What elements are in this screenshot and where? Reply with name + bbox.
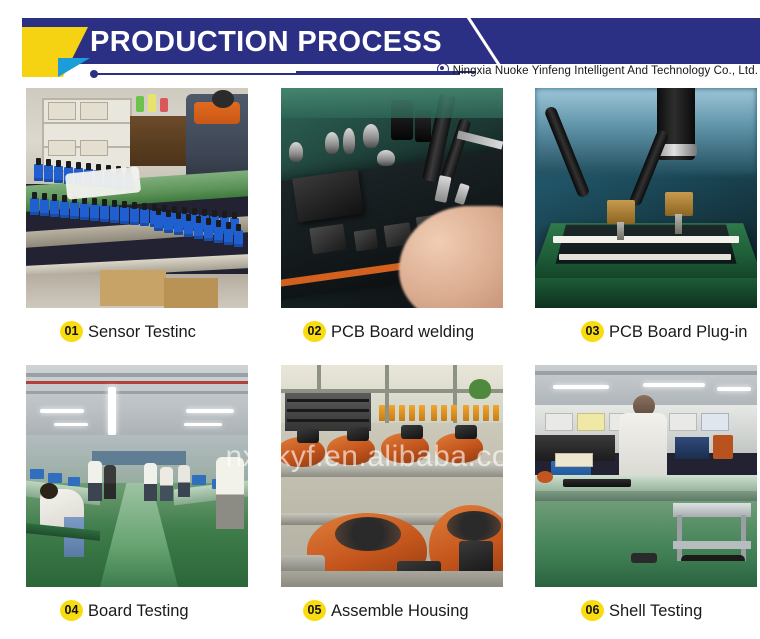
step-label-02: PCB Board welding <box>331 323 474 341</box>
target-icon <box>437 63 449 75</box>
step-label-03: PCB Board Plug-in <box>609 323 748 341</box>
process-grid: 01Sensor Testinc <box>0 88 760 639</box>
step-caption-01: 01Sensor Testinc <box>26 308 248 356</box>
process-step-01[interactable]: 01Sensor Testinc <box>26 88 248 356</box>
step-caption-02: 02PCB Board welding <box>281 308 503 356</box>
step-label-04: Board Testing <box>88 602 189 620</box>
step-badge-04: 04 <box>60 600 83 621</box>
step-badge-05: 05 <box>303 600 326 621</box>
page-title: PRODUCTION PROCESS <box>90 19 442 65</box>
step-badge-01: 01 <box>60 321 83 342</box>
step-caption-06: 06Shell Testing <box>535 587 757 635</box>
step-caption-03: 03PCB Board Plug-in <box>535 308 757 356</box>
step-photo-sensor-testing <box>26 88 248 308</box>
step-photo-pcb-plugin <box>535 88 757 308</box>
step-badge-02: 02 <box>303 321 326 342</box>
step-badge-06: 06 <box>581 600 604 621</box>
step-photo-shell-testing <box>535 365 757 587</box>
step-photo-pcb-welding <box>281 88 503 308</box>
process-step-04[interactable]: 04Board Testing <box>26 365 248 635</box>
company-name: Ningxia Nuoke Yinfeng Intelligent And Te… <box>437 63 758 77</box>
page-header: PRODUCTION PROCESS Ningxia Nuoke Yinfeng… <box>0 0 760 88</box>
step-label-05: Assemble Housing <box>331 602 469 620</box>
step-label-01: Sensor Testinc <box>88 323 196 341</box>
header-rule-left <box>96 73 460 75</box>
step-badge-03: 03 <box>581 321 604 342</box>
process-step-05[interactable]: 05Assemble Housing <box>281 365 503 635</box>
company-name-text: Ningxia Nuoke Yinfeng Intelligent And Te… <box>453 65 758 77</box>
process-step-02[interactable]: 02PCB Board welding <box>281 88 503 356</box>
step-label-06: Shell Testing <box>609 602 702 620</box>
process-step-06[interactable]: 06Shell Testing <box>535 365 757 635</box>
step-photo-assemble-housing <box>281 365 503 587</box>
header-diagonal-slash-icon <box>458 18 507 64</box>
step-caption-05: 05Assemble Housing <box>281 587 503 635</box>
step-caption-04: 04Board Testing <box>26 587 248 635</box>
process-step-03[interactable]: 03PCB Board Plug-in <box>535 88 757 356</box>
step-photo-board-testing <box>26 365 248 587</box>
